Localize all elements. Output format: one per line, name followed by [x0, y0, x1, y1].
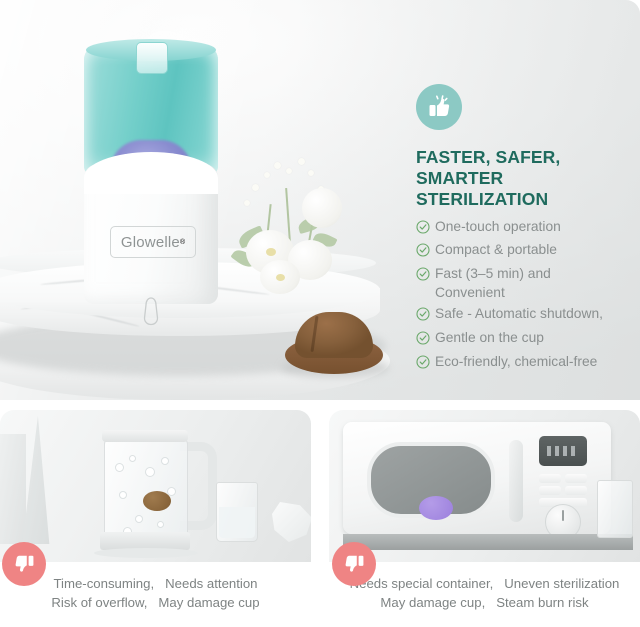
feature-bullet-label: Fast (3–5 min) and Convenient [435, 265, 551, 303]
thumbs-up-icon [416, 84, 462, 130]
check-circle-icon [416, 355, 430, 375]
microwave-panel: Needs special container, Uneven steriliz… [329, 410, 640, 627]
caption-line-2: Risk of overflow, May damage cup [0, 593, 311, 612]
cup-dome [295, 312, 373, 358]
check-circle-icon [416, 307, 430, 327]
feature-title: FASTER, SAFER, SMARTER STERILIZATION [416, 147, 632, 211]
drinking-glass [216, 482, 258, 542]
brand-badge: Glowelle® [110, 226, 196, 258]
thumbs-down-icon [332, 542, 376, 586]
check-circle-icon [416, 220, 430, 240]
menstrual-cup-icon [138, 296, 164, 331]
feature-bullet: Fast (3–5 min) and Convenient [416, 265, 632, 303]
microwave-body [343, 422, 611, 534]
sterilizer-device: Glowelle® [84, 44, 218, 302]
rose-bloom [302, 188, 342, 228]
kettle-panel: Time-consuming, Needs attention Risk of … [0, 410, 311, 627]
feature-title-line1: FASTER, SAFER, [416, 147, 632, 168]
feature-block: FASTER, SAFER, SMARTER STERILIZATION One… [416, 84, 632, 377]
glass-water [219, 507, 255, 538]
caption-line-2: May damage cup, Steam burn risk [329, 593, 640, 612]
microwave-oven [343, 422, 633, 550]
product-infographic: Glowelle® [0, 0, 640, 627]
drinking-glass [597, 480, 633, 538]
kettle-power-plate [94, 548, 198, 558]
glass-kettle [96, 426, 208, 554]
microwave-button[interactable] [565, 474, 587, 483]
feature-bullet-label: Eco-friendly, chemical-free [435, 353, 597, 372]
feature-bullet: One-touch operation [416, 218, 632, 240]
feature-bullet: Compact & portable [416, 241, 632, 263]
microwave-scene [329, 410, 640, 562]
feature-bullet-label: Gentle on the cup [435, 329, 544, 348]
flower-bouquet [214, 148, 364, 288]
check-circle-icon [416, 267, 430, 287]
caption-line-1: Time-consuming, Needs attention [0, 574, 311, 593]
caption-line-1: Needs special container, Uneven steriliz… [329, 574, 640, 593]
feature-bullet: Safe - Automatic shutdown, [416, 305, 632, 327]
feature-bullet-list: One-touch operation Compact & portable F… [416, 218, 632, 375]
feature-bullet: Gentle on the cup [416, 329, 632, 351]
kettle-scene [0, 410, 311, 562]
cup-in-kettle [143, 491, 171, 511]
check-circle-icon [416, 243, 430, 263]
hero-panel: Glowelle® [0, 0, 640, 400]
cup-in-microwave [419, 496, 453, 520]
microwave-handle[interactable] [509, 440, 523, 522]
countertop-surface [343, 534, 633, 550]
microwave-button[interactable] [539, 474, 561, 483]
thumbs-down-icon [2, 542, 46, 586]
microwave-caption: Needs special container, Uneven steriliz… [329, 562, 640, 627]
feature-bullet-label: Safe - Automatic shutdown, [435, 305, 603, 324]
feature-bullet-label: Compact & portable [435, 241, 557, 260]
background-object-left [0, 434, 26, 544]
kettle-glass-body [104, 438, 188, 542]
kettle-caption: Time-consuming, Needs attention Risk of … [0, 562, 311, 627]
microwave-door-window [367, 442, 495, 518]
microwave-display [539, 436, 587, 466]
crumpled-paper [272, 502, 311, 542]
feature-bullet: Eco-friendly, chemical-free [416, 353, 632, 375]
folded-cup-on-pedestal [285, 312, 383, 374]
microwave-button[interactable] [539, 486, 561, 495]
feature-bullet-label: One-touch operation [435, 218, 561, 237]
feature-title-line2: SMARTER STERILIZATION [416, 168, 632, 210]
microwave-button[interactable] [565, 486, 587, 495]
brand-name: Glowelle [121, 234, 180, 251]
registered-mark: ® [180, 239, 185, 246]
steam-vent [136, 42, 168, 74]
check-circle-icon [416, 331, 430, 351]
kettle-lid [102, 430, 188, 442]
